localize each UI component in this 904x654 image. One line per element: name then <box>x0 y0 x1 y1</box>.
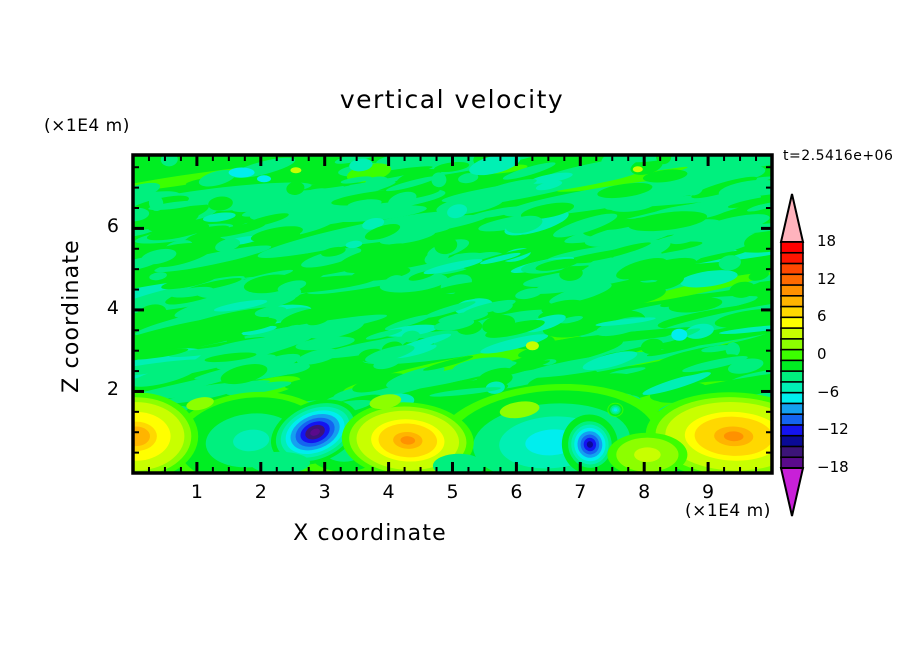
colorbar-band <box>781 285 803 296</box>
colorbar-band <box>781 296 803 307</box>
y-tick-label: 2 <box>85 378 119 400</box>
colorbar-band <box>781 264 803 275</box>
colorbar-band <box>781 360 803 371</box>
colorbar-band <box>781 446 803 457</box>
colorbar-band <box>781 317 803 328</box>
colorbar-tick-label: 18 <box>817 232 836 250</box>
colorbar-band <box>781 457 803 468</box>
colorbar-bands <box>781 194 803 516</box>
figure-canvas: vertical velocity (×1E4 m) (×1E4 m) t=2.… <box>0 0 904 654</box>
x-tick-label: 5 <box>433 481 473 503</box>
x-tick-label: 8 <box>624 481 664 503</box>
x-tick-label: 3 <box>305 481 345 503</box>
y-tick-label: 4 <box>85 297 119 319</box>
colorbar-band <box>781 328 803 339</box>
colorbar-tick-label: 12 <box>817 270 836 288</box>
colorbar-band <box>781 242 803 253</box>
colorbar-band <box>781 425 803 436</box>
colorbar-band <box>781 371 803 382</box>
x-tick-label: 4 <box>369 481 409 503</box>
colorbar-band <box>781 350 803 361</box>
colorbar-band <box>781 403 803 414</box>
colorbar-over-arrow <box>781 194 803 242</box>
contour-plot-area <box>0 0 904 654</box>
colorbar-band <box>781 253 803 264</box>
colorbar-band <box>781 382 803 393</box>
colorbar-tick-label: −12 <box>817 420 849 438</box>
x-tick-label: 6 <box>496 481 536 503</box>
x-tick-label: 7 <box>560 481 600 503</box>
colorbar-band <box>781 339 803 350</box>
colorbar-tick-label: 0 <box>817 345 827 363</box>
colorbar-band <box>781 274 803 285</box>
colorbar-band <box>781 436 803 447</box>
colorbar-band <box>781 307 803 318</box>
x-tick-label: 2 <box>241 481 281 503</box>
colorbar-tick-label: 6 <box>817 307 827 325</box>
colorbar-under-arrow <box>781 468 803 516</box>
colorbar-band <box>781 414 803 425</box>
colorbar-tick-label: −6 <box>817 383 839 401</box>
colorbar-tick-label: −18 <box>817 458 849 476</box>
x-tick-label: 9 <box>688 481 728 503</box>
x-tick-label: 1 <box>177 481 217 503</box>
y-tick-label: 6 <box>85 215 119 237</box>
colorbar-band <box>781 393 803 404</box>
